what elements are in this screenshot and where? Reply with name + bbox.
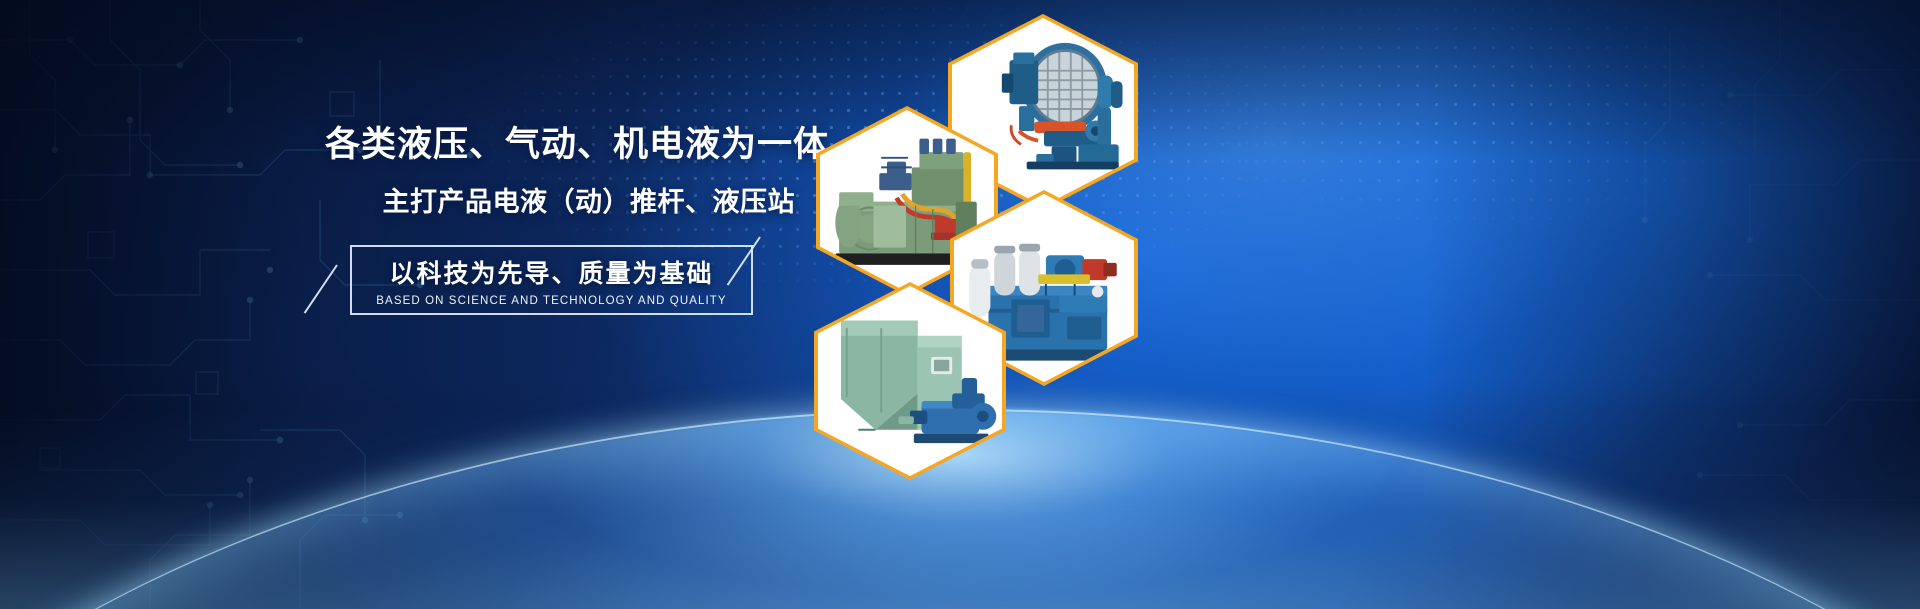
slogan-block: 以科技为先导、质量为基础 BASED ON SCIENCE AND TECHNO…	[325, 245, 795, 317]
banner-copy: 各类液压、气动、机电液为一体 主打产品电液（动）推杆、液压站 以科技为先导、质量…	[325, 124, 795, 317]
slogan-chinese: 以科技为先导、质量为基础	[389, 254, 713, 290]
product-hexagon-cluster	[780, 0, 1180, 480]
banner-headline: 各类液压、气动、机电液为一体	[325, 124, 795, 166]
banner-subline: 主打产品电液（动）推杆、液压站	[325, 180, 795, 219]
hero-banner: 各类液压、气动、机电液为一体 主打产品电液（动）推杆、液压站 以科技为先导、质量…	[0, 0, 1920, 609]
slogan-box: 以科技为先导、质量为基础 BASED ON SCIENCE AND TECHNO…	[350, 245, 753, 315]
slogan-english: BASED ON SCIENCE AND TECHNOLOGY AND QUAL…	[376, 295, 726, 307]
